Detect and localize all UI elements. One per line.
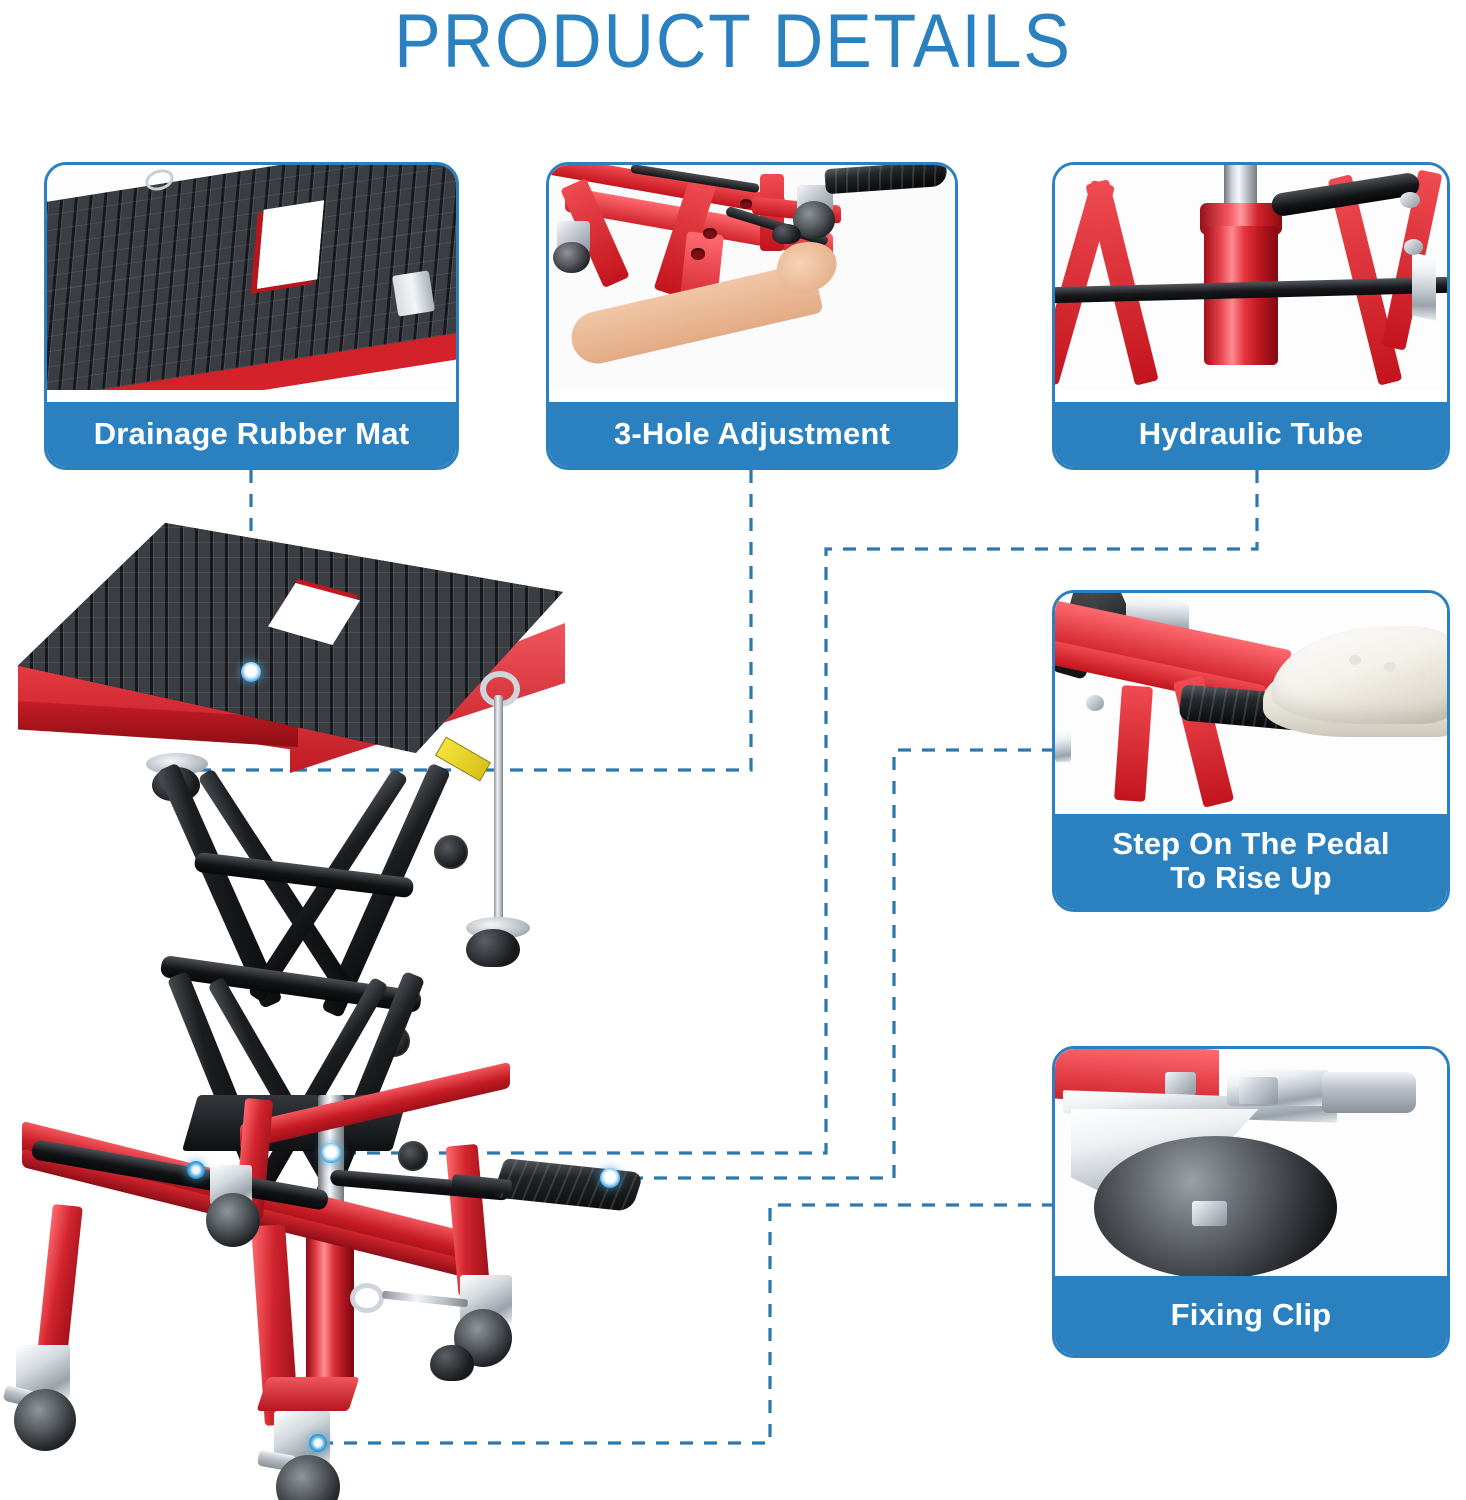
infographic-canvas: PRODUCT DETAILS [0, 0, 1466, 1500]
fixing-clip-lever [1322, 1072, 1416, 1113]
detail-card-drainage-rubber-mat[interactable]: Drainage Rubber Mat [44, 162, 459, 470]
detail-photo-hydraulic-tube [1055, 165, 1447, 390]
adjustment-hole-2 [691, 248, 705, 259]
detail-card-hydraulic-tube[interactable]: Hydraulic Tube [1052, 162, 1450, 470]
scissor-pivot-upper [434, 835, 468, 869]
shoe-eyelet-2 [1384, 662, 1396, 672]
caster-mount-plate [256, 1377, 359, 1411]
foot-pedal [824, 165, 947, 194]
callout-dot-fixing-clip [309, 1434, 327, 1452]
platform-knob-right [466, 929, 520, 967]
callout-dot-three-hole-adjustment [187, 1161, 205, 1179]
caster-lock-knob [430, 1345, 474, 1381]
detail-photo-three-hole-adjustment [549, 165, 955, 390]
adjustment-hole-3 [740, 199, 752, 209]
callout-dot-step-on-the-pedal [600, 1168, 620, 1188]
detail-label-drainage-rubber-mat: Drainage Rubber Mat [46, 402, 457, 468]
photo-art-rubber-mat [47, 165, 456, 390]
shoe-eyelet-1 [1349, 655, 1361, 665]
detail-label-step-on-the-pedal: Step On The Pedal To Rise Up [1054, 814, 1448, 910]
caster-wheel [14, 1389, 76, 1451]
wheel-axle [1192, 1201, 1227, 1226]
frame-rivet [1086, 695, 1104, 711]
lock-knob [772, 224, 800, 244]
detail-card-fixing-clip[interactable]: Fixing Clip [1052, 1046, 1450, 1358]
clip-pivot [1239, 1077, 1278, 1105]
detail-photo-drainage-rubber-mat [47, 165, 456, 390]
bracket-right [1412, 253, 1436, 321]
safety-pin [494, 695, 503, 935]
photo-art-three-hole-adjustment [549, 165, 955, 390]
callout-dot-drainage-rubber-mat [241, 662, 261, 682]
detail-card-step-on-the-pedal[interactable]: Step On The Pedal To Rise Up [1052, 590, 1450, 912]
photo-art-hydraulic-tube [1055, 165, 1447, 390]
pedal-tread [492, 1158, 644, 1212]
scissor-pivot-lower [398, 1141, 428, 1171]
base-lock-pin [382, 1291, 468, 1308]
mount-bolt [1165, 1072, 1196, 1095]
mat-drain-cutout [257, 200, 324, 288]
photo-art-step-on-the-pedal [1055, 593, 1447, 815]
base-lock-pin-ring [350, 1283, 384, 1313]
detail-photo-step-on-the-pedal [1055, 593, 1447, 815]
mat-platform-bracket [392, 270, 435, 316]
connector-line-4 [610, 750, 1055, 1178]
detail-photo-fixing-clip [1055, 1049, 1447, 1279]
detail-label-three-hole-adjustment: 3-Hole Adjustment [548, 402, 956, 468]
foot-pedal [492, 1158, 644, 1212]
caster-wheel [206, 1193, 260, 1247]
product-illustration [0, 505, 640, 1500]
detail-label-fixing-clip: Fixing Clip [1054, 1276, 1448, 1356]
frame-leg-vertical [1114, 685, 1153, 802]
scissor-bar-left-2 [1085, 179, 1158, 386]
pedal-tread [824, 165, 947, 194]
shoe-eyelet-3 [1416, 671, 1428, 681]
pivot-bolt-a [1400, 192, 1420, 208]
caster-left [553, 242, 590, 274]
detail-label-hydraulic-tube: Hydraulic Tube [1054, 402, 1448, 468]
callout-dot-hydraulic-tube [321, 1143, 341, 1163]
return-spring [1055, 731, 1071, 762]
detail-card-three-hole-adjustment[interactable]: 3-Hole Adjustment [546, 162, 958, 470]
photo-art-fixing-clip [1055, 1049, 1447, 1279]
